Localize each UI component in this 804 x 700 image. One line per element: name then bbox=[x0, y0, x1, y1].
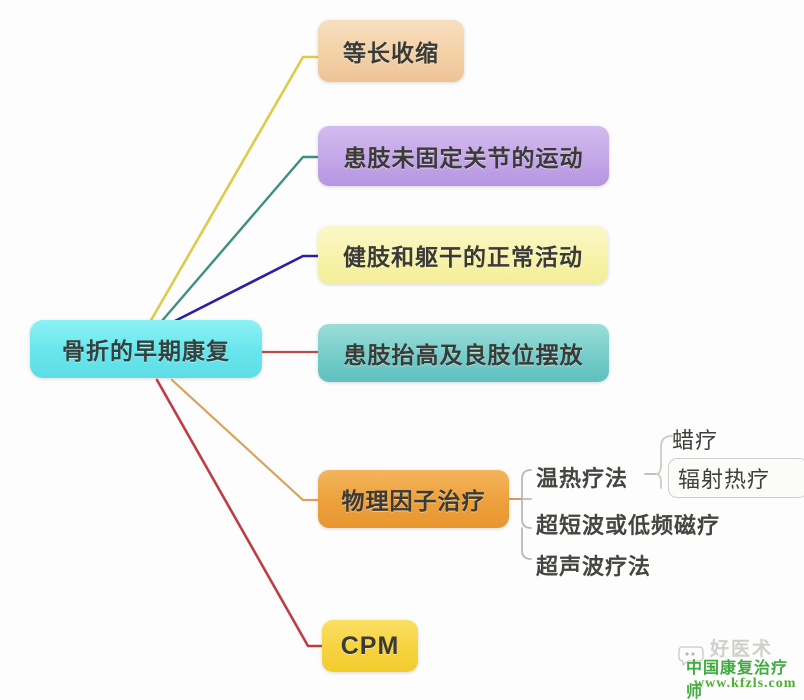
node-cpm-label: CPM bbox=[341, 632, 400, 661]
node-normal-activity[interactable]: 健肢和躯干的正常活动 bbox=[318, 226, 608, 284]
node-isometric-contraction-label: 等长收缩 bbox=[343, 34, 439, 68]
watermark-url: www.kfzls.com bbox=[694, 676, 796, 692]
bracket-physical-agents bbox=[522, 470, 531, 528]
leafnode-radiant-heat-therapy-label: 辐射热疗 bbox=[678, 462, 770, 494]
leafnode-radiant-heat-therapy[interactable]: 辐射热疗 bbox=[668, 458, 804, 498]
node-root-label: 骨折的早期康复 bbox=[62, 332, 230, 366]
node-physical-agents[interactable]: 物理因子治疗 bbox=[318, 470, 509, 528]
node-normal-activity-label: 健肢和躯干的正常活动 bbox=[343, 238, 583, 272]
edge-to-normal-activity bbox=[173, 256, 318, 322]
node-limb-elevation-label: 患肢抬高及良肢位摆放 bbox=[344, 336, 584, 370]
subnode-warm-therapy[interactable]: 温热疗法 bbox=[536, 461, 628, 493]
mindmap-canvas: 骨折的早期康复 等长收缩 患肢未固定关节的运动 健肢和躯干的正常活动 患肢抬高及… bbox=[0, 0, 804, 700]
leafnode-wax-therapy[interactable]: 蜡疗 bbox=[672, 423, 718, 455]
node-isometric-contraction[interactable]: 等长收缩 bbox=[318, 20, 464, 82]
edge-to-cpm bbox=[157, 380, 322, 646]
node-joint-motion[interactable]: 患肢未固定关节的运动 bbox=[318, 126, 609, 186]
watermark: 好医术 中国康复治疗师 www.kfzls.com bbox=[672, 632, 804, 696]
bracket-physical-agents-lower bbox=[522, 528, 531, 559]
node-cpm[interactable]: CPM bbox=[322, 620, 418, 672]
edge-to-joint-motion bbox=[161, 157, 318, 322]
node-limb-elevation[interactable]: 患肢抬高及良肢位摆放 bbox=[318, 324, 609, 382]
node-root[interactable]: 骨折的早期康复 bbox=[30, 320, 262, 378]
edge-to-isometric bbox=[150, 57, 318, 322]
subnode-shortwave-magnetic[interactable]: 超短波或低频磁疗 bbox=[536, 508, 720, 540]
node-joint-motion-label: 患肢未固定关节的运动 bbox=[344, 139, 584, 173]
node-physical-agents-label: 物理因子治疗 bbox=[342, 482, 486, 516]
edge-to-physical-agents bbox=[172, 380, 318, 500]
subnode-ultrasound-therapy[interactable]: 超声波疗法 bbox=[536, 549, 651, 581]
